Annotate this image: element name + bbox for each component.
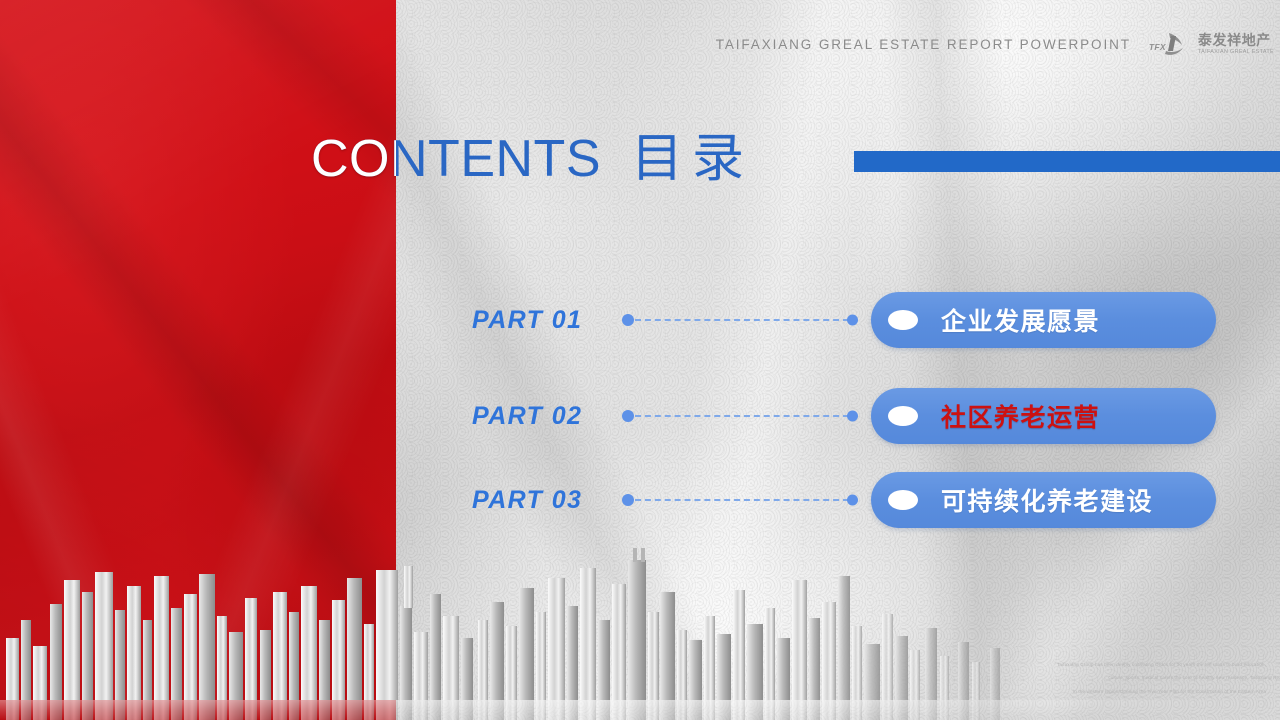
contents-pill-label-1: 企业发展愿景 <box>941 302 1100 338</box>
connector-dashed-line <box>635 499 849 501</box>
part-label-3: PART 03 <box>472 472 622 528</box>
fineprint-line-3: in the western region/Opening the Five-Y… <box>706 685 1266 698</box>
contents-pill-3[interactable]: 可持续化养老建设 <box>871 472 1216 528</box>
connector-1 <box>622 292 862 348</box>
connector-dot-left-icon <box>622 314 634 326</box>
contents-item-3[interactable]: PART 03 可持续化养老建设 <box>0 472 1280 528</box>
connector-dashed-line <box>635 319 849 321</box>
connector-dashed-line <box>635 415 849 417</box>
fineprint-line-1: Taifaxiang Group has been deeply cultiva… <box>706 658 1266 671</box>
contents-list: PART 01 企业发展愿景 PART 02 社区养老运营 <box>0 0 1280 720</box>
contents-pill-label-3: 可持续化养老建设 <box>941 482 1153 518</box>
fineprint-line-2: culture, sports, medical carefs the core… <box>706 671 1280 684</box>
contents-pill-1[interactable]: 企业发展愿景 <box>871 292 1216 348</box>
connector-dot-left-icon <box>622 494 634 506</box>
pill-bullet-icon <box>888 310 918 330</box>
contents-pill-2[interactable]: 社区养老运营 <box>871 388 1216 444</box>
slide-canvas: TAIFAXIANG GREAL ESTATE REPORT POWERPOIN… <box>0 0 1280 720</box>
connector-3 <box>622 472 862 528</box>
contents-item-2[interactable]: PART 02 社区养老运营 <box>0 388 1280 444</box>
connector-2 <box>622 388 862 444</box>
pill-bullet-icon <box>888 406 918 426</box>
connector-dot-right-icon <box>847 315 858 326</box>
contents-pill-label-2: 社区养老运营 <box>941 398 1100 434</box>
pill-bullet-icon <box>888 490 918 510</box>
contents-item-1[interactable]: PART 01 企业发展愿景 <box>0 292 1280 348</box>
footer-fineprint: Taifaxiang Group has been deeply cultiva… <box>706 658 1266 698</box>
connector-dot-right-icon <box>847 495 858 506</box>
connector-dot-left-icon <box>622 410 634 422</box>
part-label-1: PART 01 <box>472 292 622 348</box>
connector-dot-right-icon <box>847 411 858 422</box>
part-label-2: PART 02 <box>472 388 622 444</box>
